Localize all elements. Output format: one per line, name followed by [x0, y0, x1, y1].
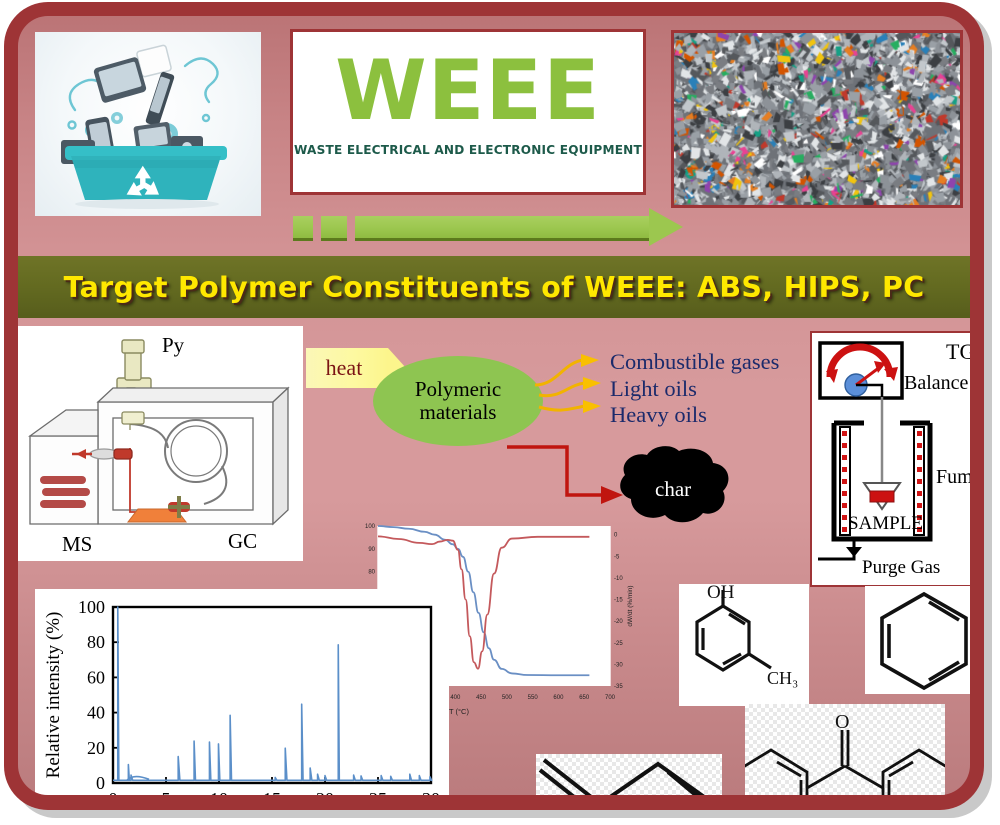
svg-text:550: 550: [528, 695, 539, 701]
recycling-bin-illustration: [35, 32, 261, 216]
svg-text:-20: -20: [614, 619, 623, 625]
svg-text:100: 100: [365, 524, 376, 530]
polymeric-materials-label: Polymeric materials: [415, 378, 501, 423]
svg-text:60: 60: [87, 667, 105, 687]
svg-text:0: 0: [109, 789, 118, 795]
molecule-m-cresol: OH CH₃: [679, 584, 809, 706]
polymeric-materials-node: Polymeric materials: [373, 356, 543, 446]
label-gc: GC: [228, 529, 257, 553]
heat-arrow-box: heat: [306, 348, 388, 388]
char-label: char: [655, 477, 691, 502]
label-ms: MS: [62, 532, 92, 556]
tga-apparatus-schematic: TGA Balance Fumace SAMPLE Purge Gas: [810, 331, 970, 587]
svg-text:400: 400: [450, 695, 461, 701]
heat-label: heat: [326, 355, 369, 381]
molecule-label-oh: OH: [707, 584, 735, 603]
title-banner: Target Polymer Constituents of WEEE: ABS…: [18, 256, 970, 318]
svg-text:100: 100: [78, 597, 105, 617]
svg-text:450: 450: [476, 695, 487, 701]
svg-text:-30: -30: [614, 662, 623, 668]
svg-text:25: 25: [369, 789, 387, 795]
py-gc-ms-chromatogram: 051015202530020406080100Retension time (…: [35, 589, 449, 795]
svg-text:-25: -25: [614, 641, 623, 647]
svg-text:T (°C): T (°C): [449, 707, 469, 716]
top-row: WEEE WASTE ELECTRICAL AND ELECTRONIC EQU…: [18, 16, 970, 241]
weee-logo-panel: WEEE WASTE ELECTRICAL AND ELECTRONIC EQU…: [290, 29, 646, 195]
svg-text:30: 30: [422, 789, 440, 795]
arrow-shaft: [355, 216, 655, 238]
label-furnace: Fumace: [936, 466, 970, 488]
graphical-abstract-poster: WEEE WASTE ELECTRICAL AND ELECTRONIC EQU…: [0, 0, 1000, 825]
svg-text:-10: -10: [614, 576, 623, 582]
svg-text:20: 20: [87, 738, 105, 758]
svg-text:-35: -35: [614, 684, 623, 690]
char-arrow: [505, 441, 630, 513]
svg-text:15: 15: [263, 789, 281, 795]
label-balance: Balance: [904, 372, 969, 394]
svg-text:-5: -5: [614, 554, 620, 560]
svg-text:20: 20: [316, 789, 334, 795]
weee-logo-subtitle: WASTE ELECTRICAL AND ELECTRONIC EQUIPMEN…: [293, 143, 643, 157]
label-purge-gas: Purge Gas: [862, 557, 940, 578]
svg-text:80: 80: [368, 570, 375, 576]
svg-text:600: 600: [553, 695, 564, 701]
product-item: Light oils: [610, 376, 830, 403]
svg-text:90: 90: [368, 547, 375, 553]
arrow-head-icon: [649, 208, 683, 246]
py-gc-ms-schematic: Py MS GC: [18, 326, 303, 561]
svg-text:700: 700: [605, 695, 616, 701]
svg-text:0: 0: [614, 533, 618, 539]
svg-text:Relative intensity (%): Relative intensity (%): [43, 612, 64, 779]
product-item: Combustible gases: [610, 349, 830, 376]
svg-text:0: 0: [96, 773, 105, 793]
molecule-benzene: [865, 586, 970, 694]
banner-title-text: Target Polymer Constituents of WEEE: ABS…: [64, 271, 925, 304]
svg-text:dW/dt (%/min): dW/dt (%/min): [627, 585, 634, 626]
svg-text:650: 650: [579, 695, 590, 701]
arrow-dash-1: [293, 216, 313, 238]
svg-text:10: 10: [210, 789, 228, 795]
arrow-dash-2: [321, 216, 347, 238]
process-arrow: [281, 208, 691, 250]
plastic-waste-photo: [671, 30, 963, 208]
molecule-benzophenone: O: [745, 704, 945, 795]
molecule-label-ch3: CH₃: [767, 668, 798, 688]
svg-text:5: 5: [162, 789, 171, 795]
svg-text:-15: -15: [614, 598, 623, 604]
label-py: Py: [162, 333, 185, 357]
svg-text:80: 80: [87, 632, 105, 652]
poster-canvas: WEEE WASTE ELECTRICAL AND ELECTRONIC EQU…: [18, 16, 970, 795]
svg-text:500: 500: [502, 695, 513, 701]
weee-logo-word: WEEE: [293, 49, 643, 132]
svg-text:40: 40: [87, 703, 105, 723]
molecule-label-o: O: [835, 711, 849, 733]
molecule-butadiene: [536, 754, 722, 795]
label-tga: TGA: [946, 339, 970, 364]
product-item: Heavy oils: [610, 402, 830, 429]
label-sample: SAMPLE: [848, 513, 923, 534]
pyrolysis-products-list: Combustible gases Light oils Heavy oils: [610, 349, 830, 429]
